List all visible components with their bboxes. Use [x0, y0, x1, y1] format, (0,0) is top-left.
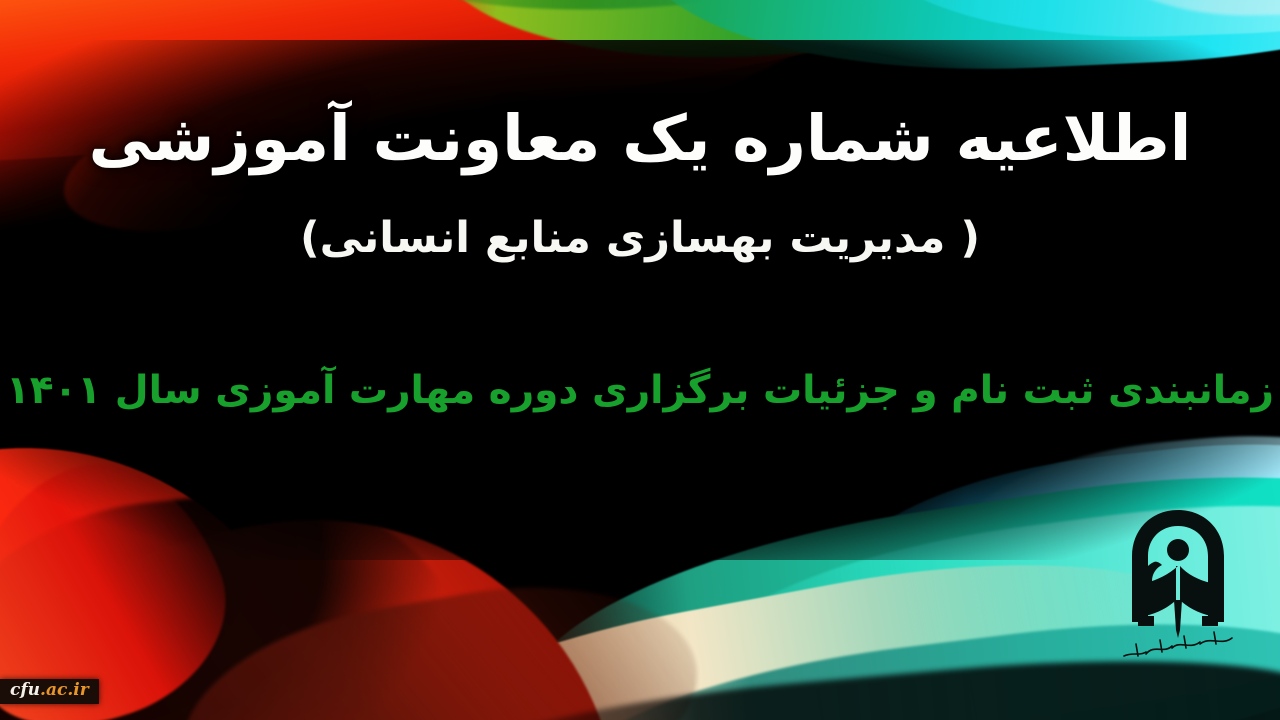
cfu-watermark: cfu.ac.ir — [0, 679, 99, 704]
slide-subtitle: ( مدیریت بهسازی منابع انسانی) — [0, 213, 1280, 265]
watermark-secondary: .ac.ir — [40, 680, 89, 700]
slide-body-line: زمانبندی ثبت نام و جزئیات برگزاری دوره م… — [0, 367, 1280, 416]
slide-content: اطلاعیه شماره یک معاونت آموزشی ( مدیریت … — [0, 0, 1280, 720]
slide-title: اطلاعیه شماره یک معاونت آموزشی — [0, 104, 1280, 175]
announcement-slide: اطلاعیه شماره یک معاونت آموزشی ( مدیریت … — [0, 0, 1280, 720]
watermark-primary: cfu — [10, 680, 40, 700]
farhangian-university-logo — [1114, 504, 1242, 672]
